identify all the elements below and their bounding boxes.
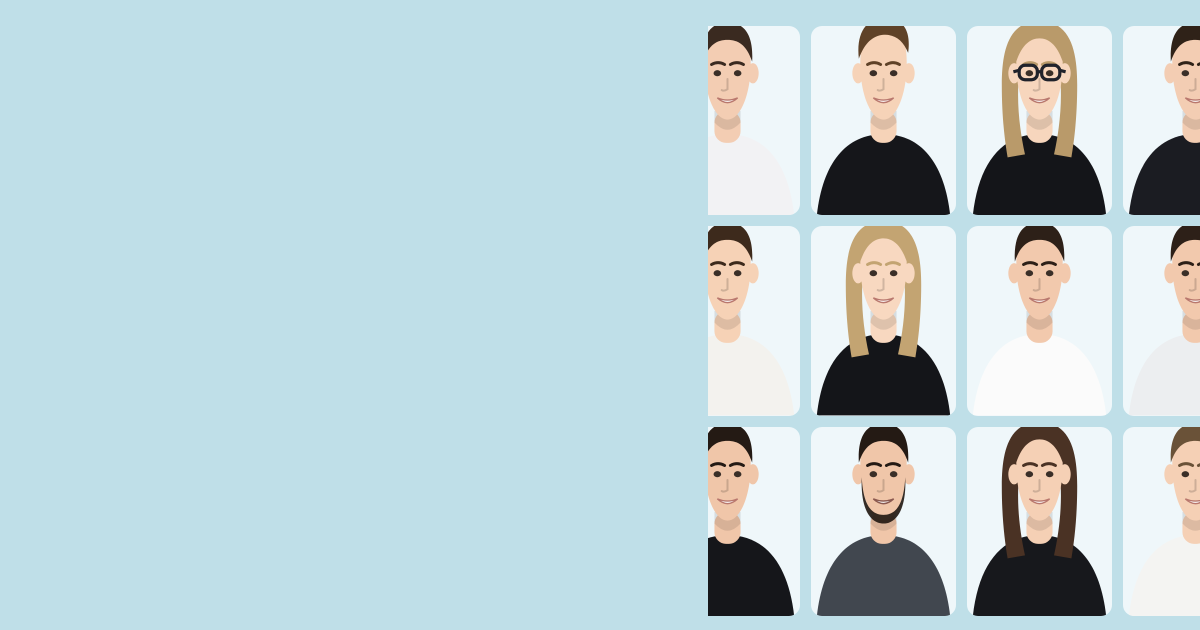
team-member-portrait	[967, 226, 1112, 415]
team-member-portrait	[1123, 427, 1200, 616]
team-photo-grid	[655, 26, 1200, 616]
team-member-portrait	[1123, 26, 1200, 215]
team-photo-card	[1123, 26, 1200, 215]
marketing-banner: PRINTFUL ENTERPRISE Meet our customer su…	[0, 0, 1200, 630]
left-background-mask	[0, 0, 708, 630]
team-photo-card	[811, 226, 956, 415]
team-photo-card	[967, 26, 1112, 215]
team-member-portrait	[811, 26, 956, 215]
team-member-portrait	[1123, 226, 1200, 415]
team-photo-card	[811, 26, 956, 215]
team-member-portrait	[967, 26, 1112, 215]
team-photo-card	[1123, 226, 1200, 415]
team-photo-card	[811, 427, 956, 616]
team-member-portrait	[967, 427, 1112, 616]
team-photo-card	[967, 427, 1112, 616]
team-member-portrait	[811, 226, 956, 415]
team-member-portrait	[811, 427, 956, 616]
team-photo-card	[967, 226, 1112, 415]
team-photo-card	[1123, 427, 1200, 616]
